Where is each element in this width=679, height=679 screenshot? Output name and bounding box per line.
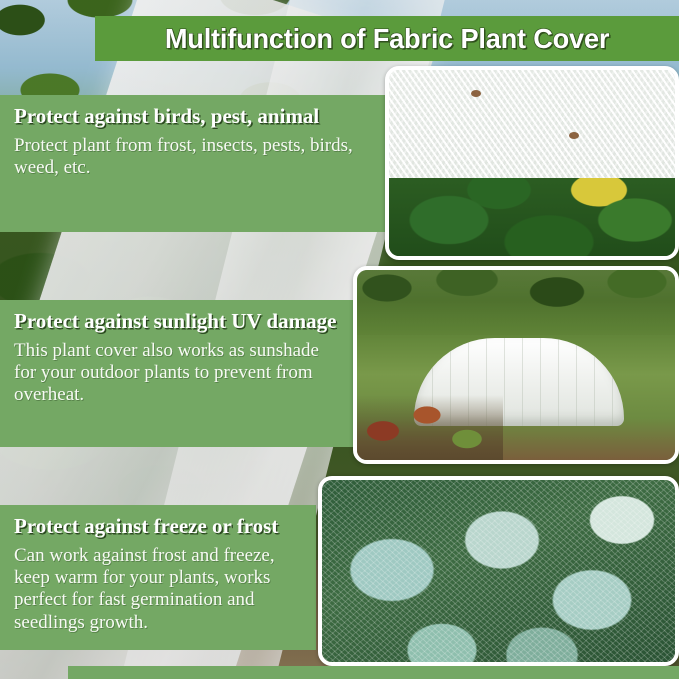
photo-1-debris-spot — [471, 90, 481, 97]
feature-panel-freeze-frost: Protect against freeze or frost Can work… — [0, 505, 316, 650]
bottom-green-bar — [68, 666, 679, 679]
frosted-leaves-photo — [318, 476, 679, 666]
feature-panel-birds-pests: Protect against birds, pest, animal Prot… — [0, 95, 392, 232]
photo-3-frost-overlay — [322, 480, 675, 662]
photo-1-content — [389, 70, 675, 256]
covered-hoop-tunnel-photo — [353, 266, 679, 464]
photo-1-debris-spot — [569, 132, 579, 139]
page-title: Multifunction of Fabric Plant Cover — [165, 23, 609, 55]
photo-3-content — [322, 480, 675, 662]
feature-body-2: This plant cover also works as sunshade … — [14, 340, 344, 407]
feature-body-1: Protect plant from frost, insects, pests… — [14, 135, 378, 180]
title-banner: Multifunction of Fabric Plant Cover — [95, 16, 679, 61]
photo-2-trees-layer — [357, 270, 675, 335]
photo-2-content — [357, 270, 675, 460]
feature-panel-uv-damage: Protect against sunlight UV damage This … — [0, 300, 358, 447]
fabric-mesh-over-leaves-photo — [385, 66, 679, 260]
feature-heading-2: Protect against sunlight UV damage — [14, 310, 344, 334]
product-infographic: Multifunction of Fabric Plant Cover Prot… — [0, 0, 679, 679]
photo-2-foreground-foliage — [357, 395, 503, 460]
feature-body-3: Can work against frost and freeze, keep … — [14, 545, 302, 635]
feature-heading-3: Protect against freeze or frost — [14, 515, 302, 539]
photo-1-mesh-fabric-layer — [389, 70, 675, 178]
feature-heading-1: Protect against birds, pest, animal — [14, 105, 378, 129]
